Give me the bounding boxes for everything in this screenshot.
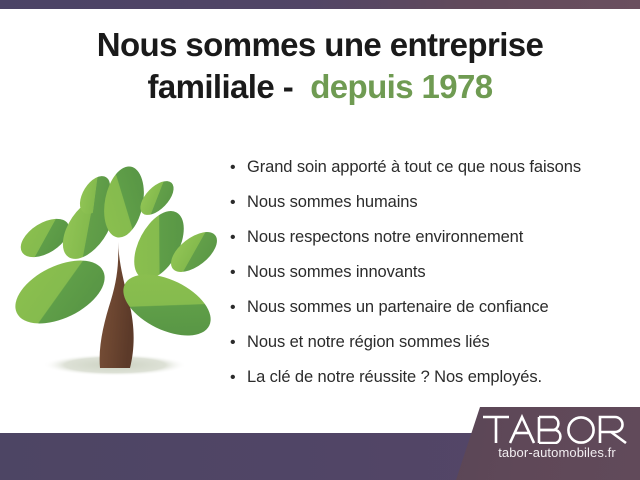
page-title: Nous sommes une entreprise familiale - d…	[0, 24, 640, 108]
list-item-label: Nous et notre région sommes liés	[247, 333, 490, 351]
logo-tagline: tabor-automobiles.fr	[482, 445, 632, 460]
brand-logo[interactable]: tabor-automobiles.fr	[482, 414, 632, 460]
headline-accent: depuis 1978	[310, 68, 492, 105]
bullet-marker-icon: •	[230, 185, 236, 220]
bullet-marker-icon: •	[230, 220, 236, 255]
bullet-marker-icon: •	[230, 150, 236, 185]
leaf-left-lower	[12, 248, 115, 337]
list-item: • Nous et notre région sommes liés	[228, 325, 628, 360]
list-item: • Nous respectons notre environnement	[228, 220, 628, 255]
headline-dash: -	[283, 68, 293, 105]
top-accent-bar	[0, 0, 640, 9]
bullet-marker-icon: •	[230, 290, 236, 325]
list-item: • Grand soin apporté à tout ce que nous …	[228, 150, 628, 185]
tree-illustration	[12, 150, 222, 390]
bullet-marker-icon: •	[230, 255, 236, 290]
headline-prefix: familiale	[147, 68, 274, 105]
bullet-marker-icon: •	[230, 360, 236, 395]
list-item-label: Nous sommes innovants	[247, 263, 426, 281]
headline-line-2: familiale - depuis 1978	[0, 66, 640, 108]
list-item-label: Nous sommes un partenaire de confiance	[247, 298, 549, 316]
list-item-label: Nous respectons notre environnement	[247, 228, 523, 246]
tabor-wordmark-icon	[482, 414, 628, 444]
list-item-label: Grand soin apporté à tout ce que nous fa…	[247, 158, 581, 176]
headline-line-1: Nous sommes une entreprise	[0, 24, 640, 66]
list-item-label: Nous sommes humains	[247, 193, 418, 211]
list-item: • Nous sommes innovants	[228, 255, 628, 290]
list-item: • Nous sommes un partenaire de confiance	[228, 290, 628, 325]
benefits-list: • Grand soin apporté à tout ce que nous …	[228, 150, 628, 395]
bullet-marker-icon: •	[230, 325, 236, 360]
list-item: • La clé de notre réussite ? Nos employé…	[228, 360, 628, 395]
list-item: • Nous sommes humains	[228, 185, 628, 220]
list-item-label: La clé de notre réussite ? Nos employés.	[247, 368, 542, 386]
